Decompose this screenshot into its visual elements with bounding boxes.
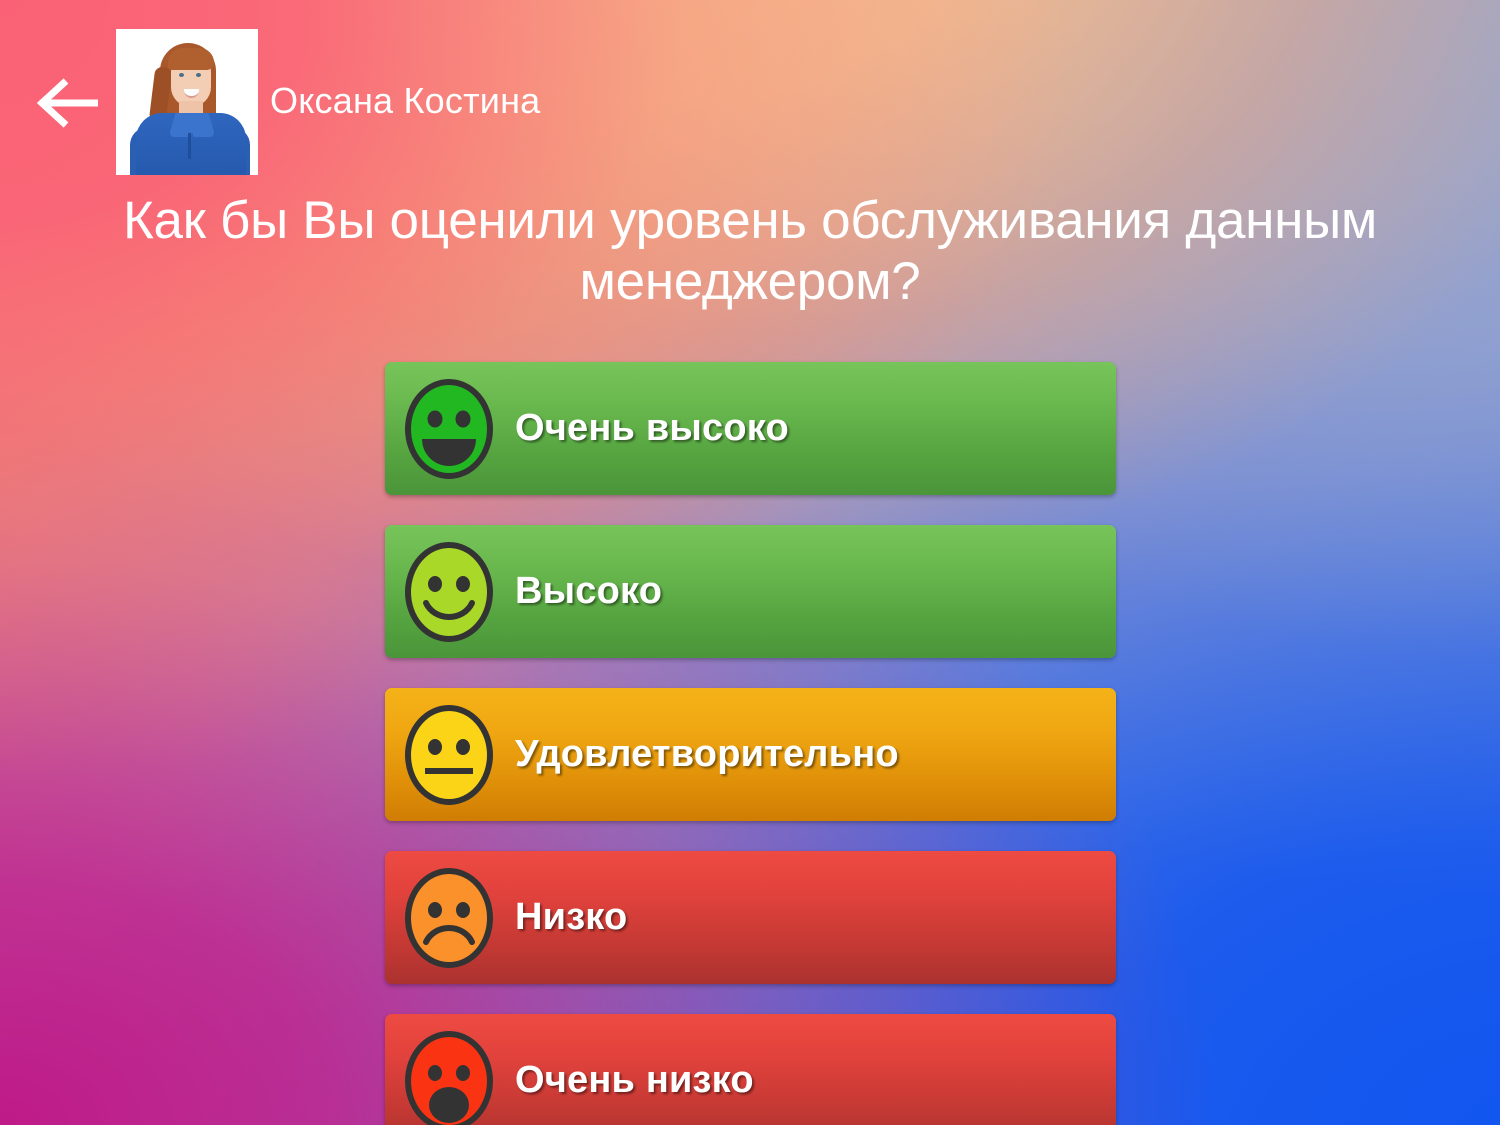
option-button-high[interactable]: Высоко: [385, 525, 1116, 658]
avatar-eye-right: [196, 73, 201, 77]
option-button-very-high[interactable]: Очень высоко: [385, 362, 1116, 495]
option-label: Высоко: [515, 570, 662, 613]
face-sad-icon: [403, 866, 495, 970]
face-happy-icon: [403, 540, 495, 644]
options-list: Очень высоко Высоко Удовлетворительно: [385, 362, 1116, 1125]
manager-name: Оксана Костина: [270, 80, 540, 122]
avatar-placket: [188, 133, 191, 159]
option-button-very-low[interactable]: Очень низко: [385, 1014, 1116, 1125]
face-very-happy-icon: [403, 377, 495, 481]
avatar-fringe: [168, 48, 214, 70]
option-label: Низко: [515, 896, 627, 939]
avatar-eye-left: [179, 73, 184, 77]
face-neutral-icon: [403, 703, 495, 807]
face-very-sad-icon: [403, 1029, 495, 1125]
back-button[interactable]: [36, 72, 102, 134]
option-label: Удовлетворительно: [515, 733, 899, 776]
option-button-low[interactable]: Низко: [385, 851, 1116, 984]
avatar: [116, 29, 258, 175]
header-bar: Оксана Костина: [0, 0, 1500, 180]
question-text: Как бы Вы оценили уровень обслуживания д…: [95, 190, 1405, 313]
option-button-satisfactory[interactable]: Удовлетворительно: [385, 688, 1116, 821]
arrow-left-icon: [36, 72, 102, 134]
option-label: Очень высоко: [515, 407, 789, 450]
option-label: Очень низко: [515, 1059, 754, 1102]
